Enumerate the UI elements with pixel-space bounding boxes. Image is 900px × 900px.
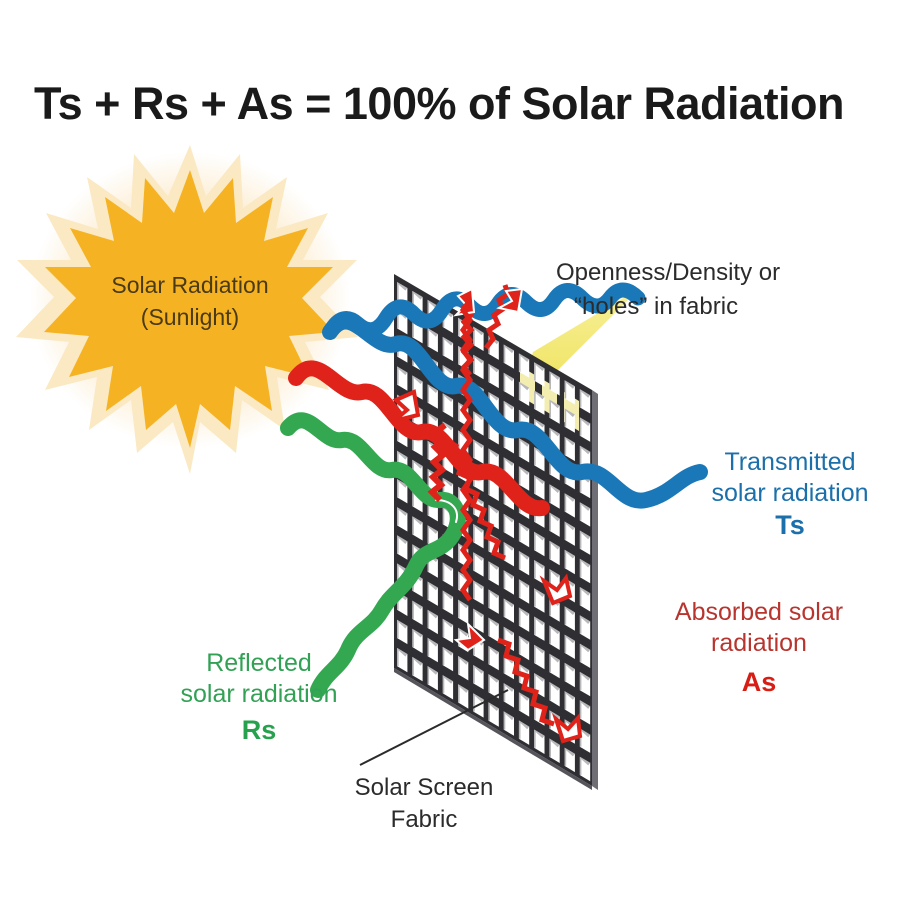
absorbed-callout: Absorbed solar radiation As bbox=[675, 598, 843, 697]
reflected-symbol: Rs bbox=[242, 715, 277, 745]
absorbed-label-line1: Absorbed solar bbox=[675, 598, 843, 626]
fabric-callout: Solar Screen Fabric bbox=[355, 774, 494, 833]
fabric-edge-thickness bbox=[592, 390, 598, 790]
absorbed-label-line2: radiation bbox=[711, 629, 807, 657]
openness-label-line1: Openness/Density or bbox=[556, 259, 780, 286]
absorbed-symbol: As bbox=[742, 667, 777, 697]
fabric-leader-line bbox=[360, 690, 508, 765]
sun-label-line1: Solar Radiation bbox=[111, 272, 268, 298]
reflected-label-line1: Reflected bbox=[206, 649, 312, 677]
sun-label-line2: (Sunlight) bbox=[141, 304, 239, 330]
solar-screen-diagram: Ts + Rs + As = 100% of Solar Radiation S… bbox=[0, 0, 900, 900]
page-title: Ts + Rs + As = 100% of Solar Radiation bbox=[34, 78, 844, 129]
reflected-label-line2: solar radiation bbox=[180, 680, 337, 708]
transmitted-symbol: Ts bbox=[775, 510, 805, 540]
reflected-callout: Reflected solar radiation Rs bbox=[180, 649, 337, 745]
fabric-label-line1: Solar Screen bbox=[355, 774, 494, 801]
transmitted-label-line2: solar radiation bbox=[711, 479, 868, 507]
transmitted-callout: Transmitted solar radiation Ts bbox=[711, 448, 868, 540]
openness-label-line2: “holes” in fabric bbox=[574, 293, 738, 320]
fabric-label-line2: Fabric bbox=[391, 806, 458, 833]
openness-callout: Openness/Density or “holes” in fabric bbox=[556, 259, 780, 320]
diagram-canvas: Ts + Rs + As = 100% of Solar Radiation S… bbox=[0, 0, 900, 900]
transmitted-label-line1: Transmitted bbox=[724, 448, 855, 476]
